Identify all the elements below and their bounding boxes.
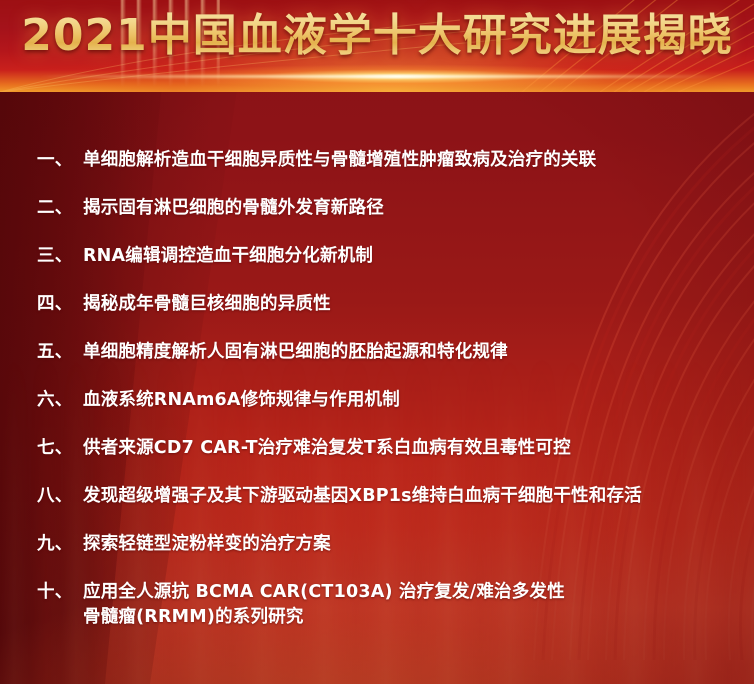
list-item-text-line2: 骨髓瘤(RRMM)的系列研究 bbox=[83, 605, 744, 630]
list-item[interactable]: 一、 单细胞解析造血干细胞异质性与骨髓增殖性肿瘤致病及治疗的关联 bbox=[37, 148, 744, 173]
list-item[interactable]: 七、 供者来源CD7 CAR-T治疗难治复发T系白血病有效且毒性可控 bbox=[37, 436, 744, 461]
list-item[interactable]: 二、 揭示固有淋巴细胞的骨髓外发育新路径 bbox=[37, 196, 744, 221]
list-item-text: 单细胞解析造血干细胞异质性与骨髓增殖性肿瘤致病及治疗的关联 bbox=[83, 148, 744, 173]
list-item-number: 七、 bbox=[37, 436, 83, 461]
list-item-number: 三、 bbox=[37, 244, 83, 269]
list-item[interactable]: 四、 揭秘成年骨髓巨核细胞的异质性 bbox=[37, 292, 744, 317]
list-item[interactable]: 三、 RNA编辑调控造血干细胞分化新机制 bbox=[37, 244, 744, 269]
list-item-text: 单细胞精度解析人固有淋巴细胞的胚胎起源和特化规律 bbox=[83, 340, 744, 365]
header-banner: 2021中国血液学十大研究进展揭晓 bbox=[0, 0, 754, 92]
list-item-number: 五、 bbox=[37, 340, 83, 365]
header-flare-streak bbox=[40, 75, 714, 78]
page-title: 2021中国血液学十大研究进展揭晓 bbox=[0, 8, 754, 64]
list-item-number: 二、 bbox=[37, 196, 83, 221]
list-item-text: RNA编辑调控造血干细胞分化新机制 bbox=[83, 244, 744, 269]
research-list: 一、 单细胞解析造血干细胞异质性与骨髓增殖性肿瘤致病及治疗的关联 二、 揭示固有… bbox=[0, 92, 754, 684]
list-item-text: 揭秘成年骨髓巨核细胞的异质性 bbox=[83, 292, 744, 317]
list-item[interactable]: 十、 应用全人源抗 BCMA CAR(CT103A) 治疗复发/难治多发性 骨髓… bbox=[37, 580, 744, 630]
list-item-text: 探索轻链型淀粉样变的治疗方案 bbox=[83, 532, 744, 557]
list-item-number: 六、 bbox=[37, 388, 83, 413]
list-item-number: 一、 bbox=[37, 148, 83, 173]
list-item-text: 血液系统RNAm6A修饰规律与作用机制 bbox=[83, 388, 744, 413]
list-item[interactable]: 五、 单细胞精度解析人固有淋巴细胞的胚胎起源和特化规律 bbox=[37, 340, 744, 365]
list-item-text: 供者来源CD7 CAR-T治疗难治复发T系白血病有效且毒性可控 bbox=[83, 436, 744, 461]
list-item[interactable]: 九、 探索轻链型淀粉样变的治疗方案 bbox=[37, 532, 744, 557]
poster-root: 2021中国血液学十大研究进展揭晓 一、 单细胞解析造血干细胞异质性与骨髓增殖性… bbox=[0, 0, 754, 684]
list-item-number: 十、 bbox=[37, 580, 83, 605]
list-item-text: 揭示固有淋巴细胞的骨髓外发育新路径 bbox=[83, 196, 744, 221]
list-item-text: 应用全人源抗 BCMA CAR(CT103A) 治疗复发/难治多发性 骨髓瘤(R… bbox=[83, 580, 744, 630]
list-item-number: 九、 bbox=[37, 532, 83, 557]
list-item[interactable]: 八、 发现超级增强子及其下游驱动基因XBP1s维持白血病干细胞干性和存活 bbox=[37, 484, 744, 509]
list-item-number: 八、 bbox=[37, 484, 83, 509]
list-item[interactable]: 六、 血液系统RNAm6A修饰规律与作用机制 bbox=[37, 388, 744, 413]
list-item-text-line1: 应用全人源抗 BCMA CAR(CT103A) 治疗复发/难治多发性 bbox=[83, 582, 565, 602]
list-item-text: 发现超级增强子及其下游驱动基因XBP1s维持白血病干细胞干性和存活 bbox=[83, 484, 744, 509]
list-item-number: 四、 bbox=[37, 292, 83, 317]
